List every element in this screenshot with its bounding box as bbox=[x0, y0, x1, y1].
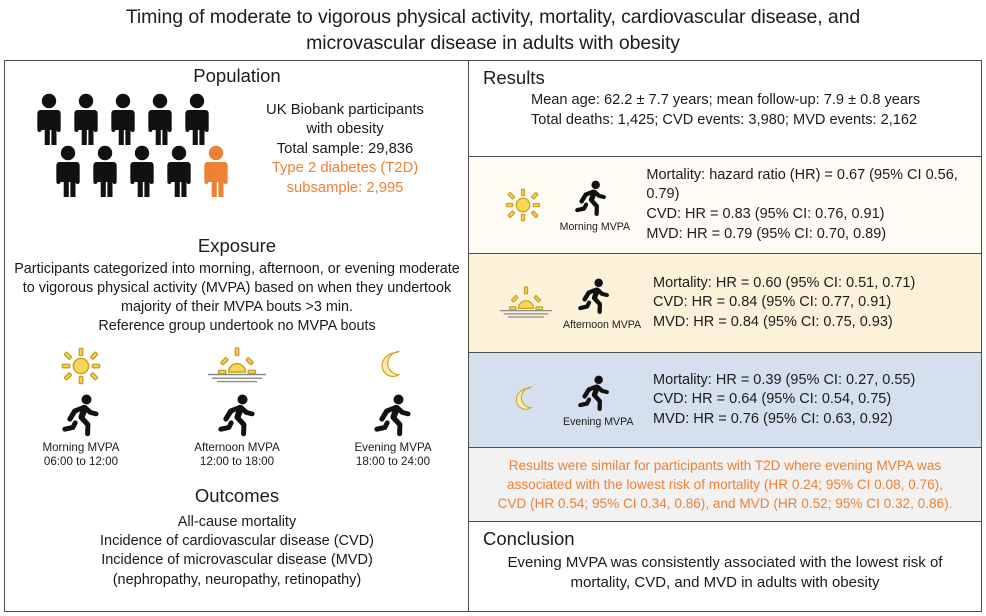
mvpa-time-morning: 06:00 to 12:00 bbox=[25, 455, 137, 469]
conclusion-text: Evening MVPA was consistently associated… bbox=[469, 550, 981, 593]
conclusion-line-2: mortality, CVD, and MVD in adults with o… bbox=[505, 573, 945, 593]
band-sunrise-cell bbox=[495, 282, 557, 324]
mvpa-name-afternoon: Afternoon MVPA bbox=[181, 441, 293, 455]
population-section: Population bbox=[5, 89, 469, 202]
exposure-line-4: Reference group undertook no MVPA bouts bbox=[11, 317, 463, 336]
band-runner-cell-evening: Evening MVPA bbox=[563, 372, 625, 428]
mvpa-label-afternoon: Afternoon MVPA 12:00 to 18:00 bbox=[181, 441, 293, 470]
sunrise-icon bbox=[495, 282, 557, 324]
moon-icon bbox=[337, 345, 449, 385]
band-caption-afternoon: Afternoon MVPA bbox=[563, 319, 625, 331]
band-icons-afternoon: Afternoon MVPA bbox=[469, 275, 643, 331]
exposure-section: Exposure Participants categorized into m… bbox=[5, 235, 469, 336]
runner-icon bbox=[181, 393, 293, 437]
exposure-line-3: majority of their MVPA bouts >3 min. bbox=[11, 298, 463, 317]
population-text: UK Biobank participants with obesity Tot… bbox=[239, 101, 451, 198]
mvpa-groups-row: Morning MVPA 06:00 to 12:00 bbox=[5, 345, 469, 470]
outcomes-heading: Outcomes bbox=[5, 485, 469, 507]
t2d-note-line-3: CVD (HR 0.54; 95% CI 0.34, 0.86), and MV… bbox=[498, 494, 953, 513]
right-panel: Results Mean age: 62.2 ± 7.7 years; mean… bbox=[469, 61, 981, 611]
abstract-frame: Population bbox=[4, 60, 982, 612]
evening-stat-mortality: Mortality: HR = 0.39 (95% CI: 0.27, 0.55… bbox=[653, 371, 915, 391]
band-icons-evening: Evening MVPA bbox=[469, 372, 643, 428]
band-caption-evening: Evening MVPA bbox=[563, 416, 625, 428]
mvpa-time-evening: 18:00 to 24:00 bbox=[337, 455, 449, 469]
evening-stat-cvd: CVD: HR = 0.64 (95% CI: 0.54, 0.75) bbox=[653, 390, 915, 410]
outcomes-line-3: Incidence of microvascular disease (MVD) bbox=[5, 551, 469, 570]
moon-icon bbox=[495, 379, 557, 421]
sun-icon bbox=[25, 345, 137, 385]
band-moon-cell bbox=[495, 379, 557, 421]
outcomes-line-2: Incidence of cardiovascular disease (CVD… bbox=[5, 532, 469, 551]
mvpa-label-morning: Morning MVPA 06:00 to 12:00 bbox=[25, 441, 137, 470]
results-line-1: Mean age: 62.2 ± 7.7 years; mean follow-… bbox=[531, 91, 981, 111]
t2d-note-band: Results were similar for participants wi… bbox=[469, 447, 981, 521]
runner-icon bbox=[25, 393, 137, 437]
results-line-2: Total deaths: 1,425; CVD events: 3,980; … bbox=[531, 111, 981, 131]
outcomes-line-1: All-cause mortality bbox=[5, 513, 469, 532]
results-header-band: Results Mean age: 62.2 ± 7.7 years; mean… bbox=[469, 61, 981, 156]
morning-stat-mvd: MVD: HR = 0.79 (95% CI: 0.70, 0.89) bbox=[646, 225, 981, 245]
left-panel: Population bbox=[5, 61, 469, 611]
population-line-3: Total sample: 29,836 bbox=[239, 140, 451, 159]
population-line-1: UK Biobank participants bbox=[239, 101, 451, 120]
outcomes-section: Outcomes All-cause mortality Incidence o… bbox=[5, 485, 469, 590]
runner-icon bbox=[337, 393, 449, 437]
graphical-abstract: Timing of moderate to vigorous physical … bbox=[0, 0, 986, 616]
population-heading: Population bbox=[5, 65, 469, 87]
results-heading: Results bbox=[469, 61, 981, 89]
afternoon-stat-cvd: CVD: HR = 0.84 (95% CI: 0.77, 0.91) bbox=[653, 293, 915, 313]
exposure-line-1: Participants categorized into morning, a… bbox=[11, 260, 463, 279]
results-band-afternoon: Afternoon MVPA Mortality: HR = 0.60 (95%… bbox=[469, 253, 981, 352]
conclusion-line-1: Evening MVPA was consistently associated… bbox=[505, 553, 945, 573]
runner-icon bbox=[560, 177, 622, 219]
population-line-2: with obesity bbox=[239, 120, 451, 139]
results-band-evening: Evening MVPA Mortality: HR = 0.39 (95% C… bbox=[469, 352, 981, 447]
exposure-text: Participants categorized into morning, a… bbox=[5, 260, 469, 336]
conclusion-band: Conclusion Evening MVPA was consistently… bbox=[469, 521, 981, 611]
sun-icon bbox=[492, 184, 554, 226]
mvpa-time-afternoon: 12:00 to 18:00 bbox=[181, 455, 293, 469]
morning-stat-cvd: CVD: HR = 0.83 (95% CI: 0.76, 0.91) bbox=[646, 205, 981, 225]
t2d-line-2: subsample: 2,995 bbox=[239, 179, 451, 198]
t2d-line-1: Type 2 diabetes (T2D) bbox=[239, 159, 451, 178]
t2d-note-line-2: associated with the lowest risk of morta… bbox=[498, 475, 953, 494]
exposure-heading: Exposure bbox=[5, 235, 469, 257]
band-sun-cell bbox=[492, 184, 554, 226]
highlighted-person-icon bbox=[204, 146, 227, 197]
conclusion-heading: Conclusion bbox=[469, 522, 981, 550]
mvpa-label-evening: Evening MVPA 18:00 to 24:00 bbox=[337, 441, 449, 470]
band-stats-evening: Mortality: HR = 0.39 (95% CI: 0.27, 0.55… bbox=[643, 371, 915, 430]
runner-icon bbox=[563, 372, 625, 414]
band-caption-morning: Morning MVPA bbox=[560, 221, 622, 233]
mvpa-group-evening: Evening MVPA 18:00 to 24:00 bbox=[337, 345, 449, 470]
t2d-note-text: Results were similar for participants wi… bbox=[482, 456, 969, 513]
band-stats-afternoon: Mortality: HR = 0.60 (95% CI: 0.51, 0.71… bbox=[643, 274, 915, 333]
title-line-2: microvascular disease in adults with obe… bbox=[0, 30, 986, 56]
sunrise-icon bbox=[181, 345, 293, 385]
title-line-1: Timing of moderate to vigorous physical … bbox=[126, 6, 860, 28]
band-icons-morning: Morning MVPA bbox=[469, 177, 636, 233]
mvpa-name-evening: Evening MVPA bbox=[337, 441, 449, 455]
t2d-note-line-1: Results were similar for participants wi… bbox=[498, 456, 953, 475]
band-runner-cell-afternoon: Afternoon MVPA bbox=[563, 275, 625, 331]
afternoon-stat-mortality: Mortality: HR = 0.60 (95% CI: 0.51, 0.71… bbox=[653, 274, 915, 294]
band-runner-cell-morning: Morning MVPA bbox=[560, 177, 622, 233]
outcomes-line-4: (nephropathy, neuropathy, retinopathy) bbox=[5, 571, 469, 590]
mvpa-group-afternoon: Afternoon MVPA 12:00 to 18:00 bbox=[181, 345, 293, 470]
mvpa-name-morning: Morning MVPA bbox=[25, 441, 137, 455]
mvpa-group-morning: Morning MVPA 06:00 to 12:00 bbox=[25, 345, 137, 470]
results-summary: Mean age: 62.2 ± 7.7 years; mean follow-… bbox=[469, 89, 981, 130]
afternoon-stat-mvd: MVD: HR = 0.84 (95% CI: 0.75, 0.93) bbox=[653, 313, 915, 333]
results-band-morning: Morning MVPA Mortality: hazard ratio (HR… bbox=[469, 156, 981, 253]
runner-icon bbox=[563, 275, 625, 317]
band-stats-morning: Mortality: hazard ratio (HR) = 0.67 (95%… bbox=[636, 166, 981, 244]
people-figures-icon bbox=[33, 93, 233, 197]
population-pictogram bbox=[33, 93, 233, 202]
outcomes-text: All-cause mortality Incidence of cardiov… bbox=[5, 513, 469, 590]
exposure-line-2: to vigorous physical activity (MVPA) bas… bbox=[11, 279, 463, 298]
morning-stat-mortality: Mortality: hazard ratio (HR) = 0.67 (95%… bbox=[646, 166, 981, 205]
page-title: Timing of moderate to vigorous physical … bbox=[0, 4, 986, 56]
evening-stat-mvd: MVD: HR = 0.76 (95% CI: 0.63, 0.92) bbox=[653, 410, 915, 430]
